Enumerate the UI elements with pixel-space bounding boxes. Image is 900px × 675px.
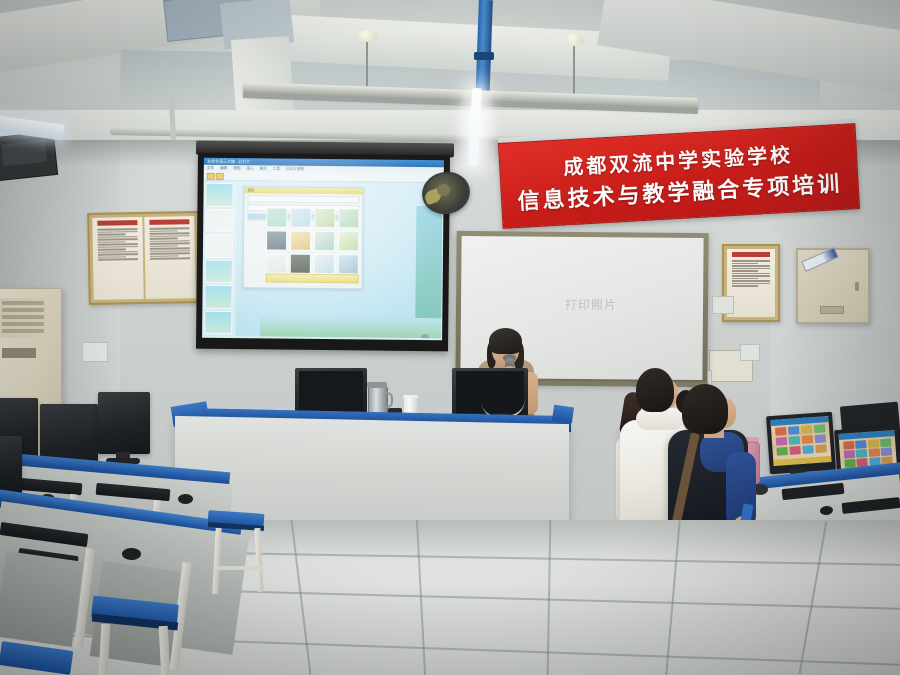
screen-tile[interactable] xyxy=(775,427,787,436)
wall-poster-pair-left xyxy=(87,211,201,305)
dialog-titlebar: 模板 xyxy=(245,187,363,194)
cabinet-latch[interactable] xyxy=(855,282,859,291)
slide-thumbnail[interactable] xyxy=(204,285,232,309)
vent-slat xyxy=(2,315,44,319)
wall-speaker-grill xyxy=(1,140,47,166)
pipe-clamp xyxy=(474,52,494,60)
template-thumbnail[interactable] xyxy=(338,208,359,228)
vent-slat xyxy=(2,301,44,305)
screen-tile[interactable] xyxy=(856,449,867,457)
template-thumbnail[interactable] xyxy=(314,254,335,274)
air-conditioner-label xyxy=(2,348,36,358)
poster-heading xyxy=(149,219,189,225)
poster-page-1 xyxy=(92,217,143,300)
student-front-hair xyxy=(636,368,674,412)
left-monitor-3[interactable] xyxy=(98,392,150,454)
slide-thumbnail[interactable] xyxy=(205,208,233,232)
vent-slat xyxy=(2,322,44,326)
template-thumbnail[interactable] xyxy=(314,231,335,251)
vent-slat xyxy=(2,329,44,333)
slide-background-scene xyxy=(260,316,443,338)
screen-tile[interactable] xyxy=(801,425,813,434)
mouse[interactable] xyxy=(178,494,193,504)
screen-tile[interactable] xyxy=(789,436,801,445)
left-monitor-4[interactable] xyxy=(0,436,22,498)
screen-tile[interactable] xyxy=(815,444,827,453)
right-monitor-1-screen[interactable] xyxy=(770,416,831,466)
student-back-hair xyxy=(682,384,728,434)
screen-tile[interactable] xyxy=(814,424,826,433)
projected-slide-software[interactable]: 未命名演示文稿 - 幻灯片 文件 编辑 视图 插入 格式 工具 幻灯片放映 xyxy=(202,158,444,341)
stool-rail xyxy=(216,566,262,570)
poster-text-line xyxy=(732,283,770,285)
screen-tile[interactable] xyxy=(868,439,879,447)
poster-text-line xyxy=(732,275,770,277)
projected-slide-panel[interactable] xyxy=(203,181,235,336)
poster-page-3 xyxy=(727,249,775,317)
ceiling-lamp-mount-left xyxy=(357,30,377,42)
whiteboard-writing: 打印照片 xyxy=(565,296,631,315)
poster-text-line xyxy=(732,270,758,272)
wall-socket[interactable] xyxy=(712,296,734,314)
template-thumbnail[interactable] xyxy=(290,208,311,228)
presenter-hair xyxy=(489,328,522,354)
poster-heading xyxy=(732,252,770,257)
poster-heading xyxy=(97,220,137,226)
screen-tile[interactable] xyxy=(776,447,788,456)
desk-panel xyxy=(0,551,84,647)
slide-thumbnail[interactable] xyxy=(205,259,233,283)
screen-tile-grid[interactable] xyxy=(775,424,827,455)
poster-text-line xyxy=(732,278,758,280)
template-thumbnail[interactable] xyxy=(266,253,287,273)
toolbar-icon[interactable] xyxy=(207,173,215,180)
wall-socket[interactable] xyxy=(740,344,760,361)
template-thumbnail[interactable] xyxy=(314,208,335,228)
screen-tile[interactable] xyxy=(801,435,813,444)
thermos-lid[interactable] xyxy=(367,382,387,388)
air-conditioner-vent xyxy=(0,298,46,338)
pendant-rod-right xyxy=(573,42,575,94)
screen-tile[interactable] xyxy=(880,438,891,446)
ceiling-lamp-mount-right xyxy=(564,34,584,46)
poster-text-line xyxy=(150,257,190,259)
template-thumbnail[interactable] xyxy=(290,254,311,274)
classroom-photo: 成都双流中学实验学校 信息技术与教学融合专项培训 未命名演示文稿 - 幻灯片 文… xyxy=(0,0,900,675)
template-thumbnail[interactable] xyxy=(266,230,287,250)
slide-thumbnail[interactable] xyxy=(204,310,232,334)
template-thumbnail[interactable] xyxy=(290,231,311,251)
mouse[interactable] xyxy=(122,548,141,560)
slide-tree xyxy=(421,334,429,338)
cabinet-label-plate xyxy=(820,306,844,314)
screen-tile[interactable] xyxy=(855,440,866,448)
template-thumbnail[interactable] xyxy=(338,231,359,251)
vent-slat xyxy=(2,308,44,312)
dialog-bottom-bar xyxy=(266,273,359,283)
screen-tile[interactable] xyxy=(814,434,826,443)
screen-tile[interactable] xyxy=(776,437,788,446)
screen-tile[interactable] xyxy=(802,445,814,454)
template-thumbnail[interactable] xyxy=(266,207,287,227)
thermos-handle xyxy=(385,392,393,408)
stage-right-edge xyxy=(415,206,442,336)
template-thumbnail-grid[interactable] xyxy=(266,207,360,274)
poster-text-line xyxy=(98,258,138,260)
poster-text-line xyxy=(732,268,770,270)
screen-tile[interactable] xyxy=(789,446,801,455)
projected-template-dialog[interactable]: 模板 xyxy=(243,186,364,289)
template-thumbnail[interactable] xyxy=(338,254,359,274)
slide-thumbnail[interactable] xyxy=(205,234,233,258)
screen-tile[interactable] xyxy=(881,447,892,455)
slide-thumbnail[interactable] xyxy=(205,183,233,207)
screen-tile[interactable] xyxy=(788,426,800,435)
poster-text-line xyxy=(732,285,758,287)
poster-text-line xyxy=(732,260,770,262)
poster-text-line xyxy=(732,265,770,267)
screen-tile[interactable] xyxy=(868,448,879,456)
poster-page-2 xyxy=(144,216,195,299)
screen-tile[interactable] xyxy=(843,441,854,449)
dialog-row[interactable] xyxy=(247,195,359,203)
podium-monitor-left-screen[interactable] xyxy=(299,371,363,411)
poster-text-line xyxy=(732,280,770,282)
wall-socket[interactable] xyxy=(82,342,108,362)
poster-text-line xyxy=(732,263,758,265)
toolbar-icon[interactable] xyxy=(216,173,224,180)
poster-text-line xyxy=(732,273,770,275)
fan-hub xyxy=(437,184,450,196)
podium-right-wing xyxy=(552,405,574,424)
screen-tile[interactable] xyxy=(844,450,855,458)
projected-slide-stage: 模板 xyxy=(235,181,443,338)
